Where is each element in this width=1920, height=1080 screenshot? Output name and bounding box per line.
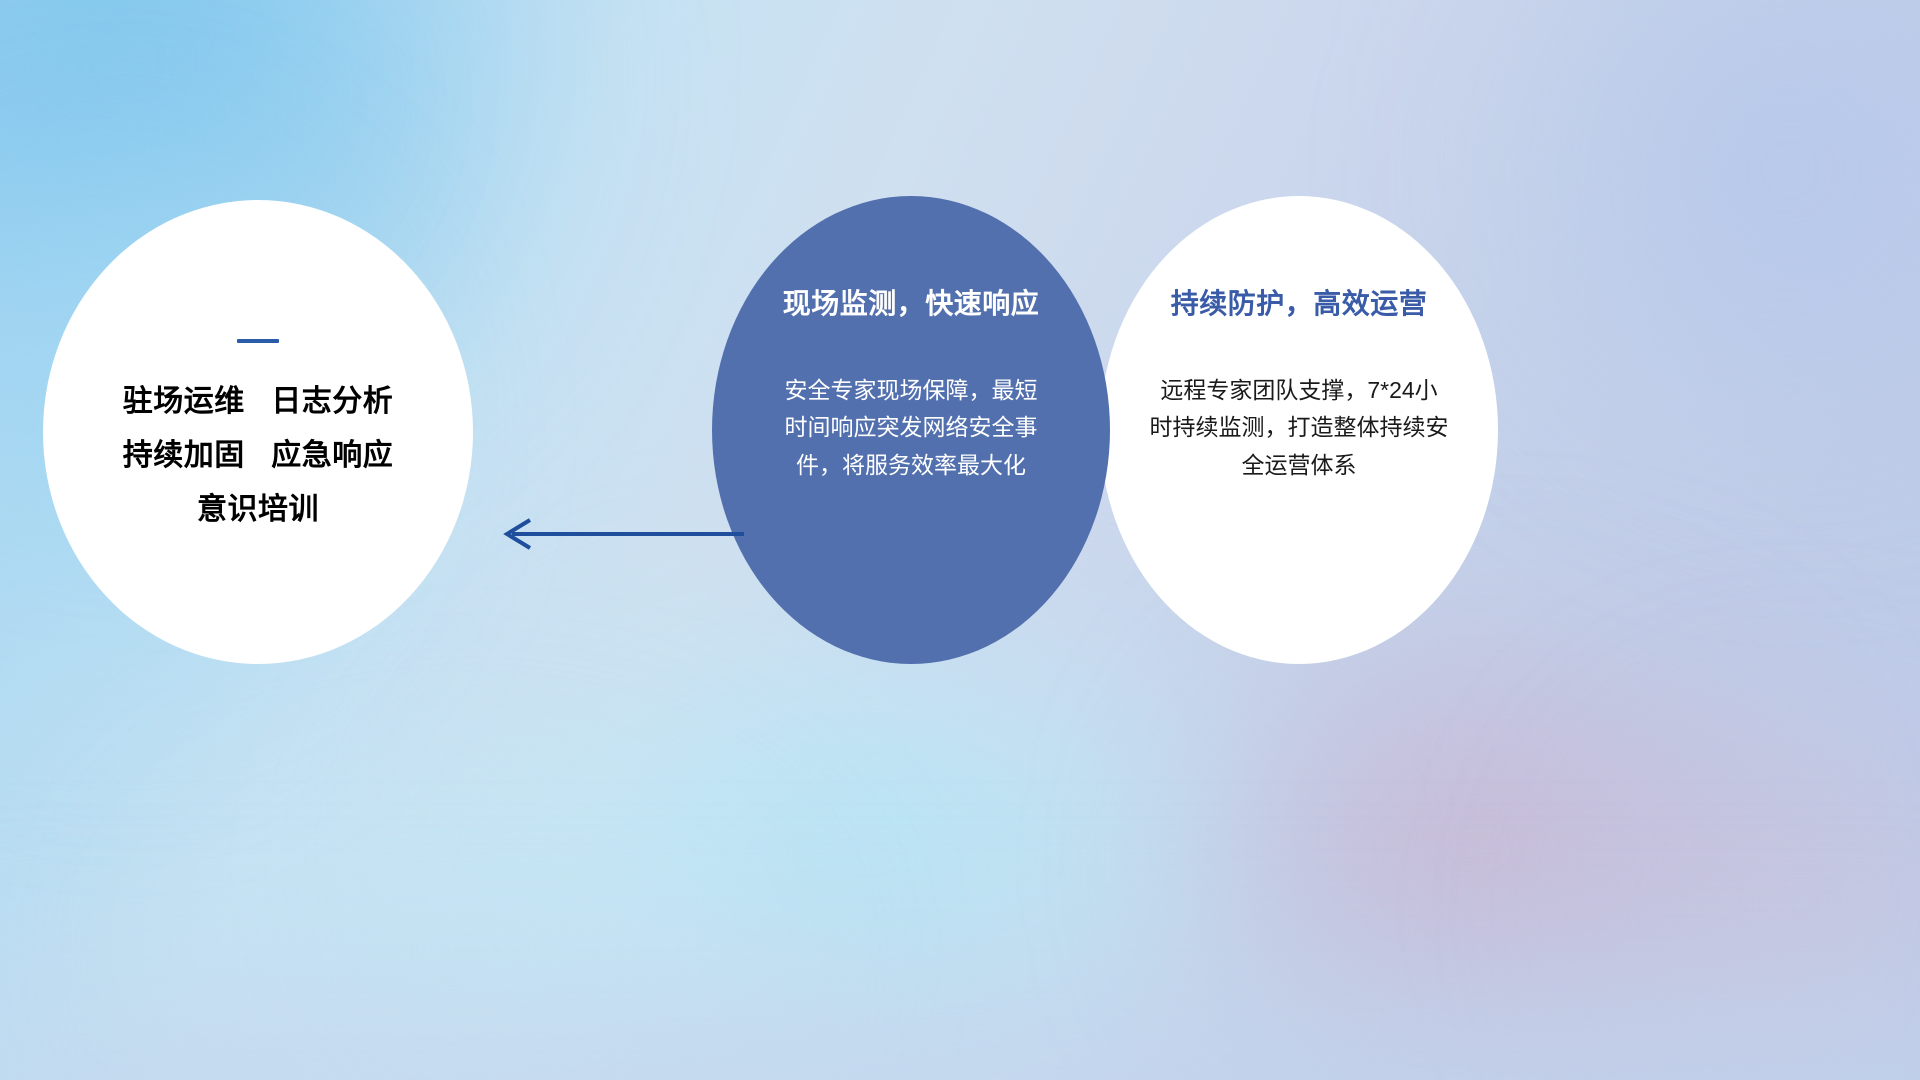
- service-bubble-middle[interactable]: 现场监测，快速响应 安全专家现场保障，最短时间响应突发网络安全事件，将服务效率最…: [712, 196, 1110, 664]
- glow-pink-right: [1200, 640, 1820, 1080]
- capability-line-3: 意识培训: [123, 495, 394, 525]
- capability-line-2: 持续加固 应急响应: [123, 441, 394, 471]
- glow-top-right: [1480, 0, 1920, 480]
- right-bubble-body: 远程专家团队支撑，7*24小时持续监测，打造整体持续安全运营体系: [1149, 372, 1449, 484]
- right-bubble-title: 持续防护，高效运营: [1171, 282, 1428, 322]
- glow-cyan-left: [120, 760, 820, 1080]
- capability-line-1: 驻场运维 日志分析: [123, 387, 394, 417]
- arrow-left-icon: [486, 512, 746, 556]
- middle-bubble-body: 安全专家现场保障，最短时间响应突发网络安全事件，将服务效率最大化: [779, 372, 1043, 484]
- glow-bottom-wash: [0, 880, 1920, 1080]
- short-dash-icon: [237, 339, 279, 343]
- glow-cyan-center: [380, 620, 1360, 1080]
- capability-list: 驻场运维 日志分析 持续加固 应急响应 意识培训: [123, 387, 394, 525]
- service-bubble-right[interactable]: 持续防护，高效运营 远程专家团队支撑，7*24小时持续监测，打造整体持续安全运营…: [1100, 196, 1498, 664]
- middle-bubble-title: 现场监测，快速响应: [783, 282, 1040, 322]
- capability-bubble-left[interactable]: 驻场运维 日志分析 持续加固 应急响应 意识培训: [43, 200, 473, 664]
- glow-pink-corner: [1560, 720, 1920, 1080]
- slide-canvas: 驻场运维 日志分析 持续加固 应急响应 意识培训 持续防护，高效运营 远程专家团…: [0, 0, 1920, 1080]
